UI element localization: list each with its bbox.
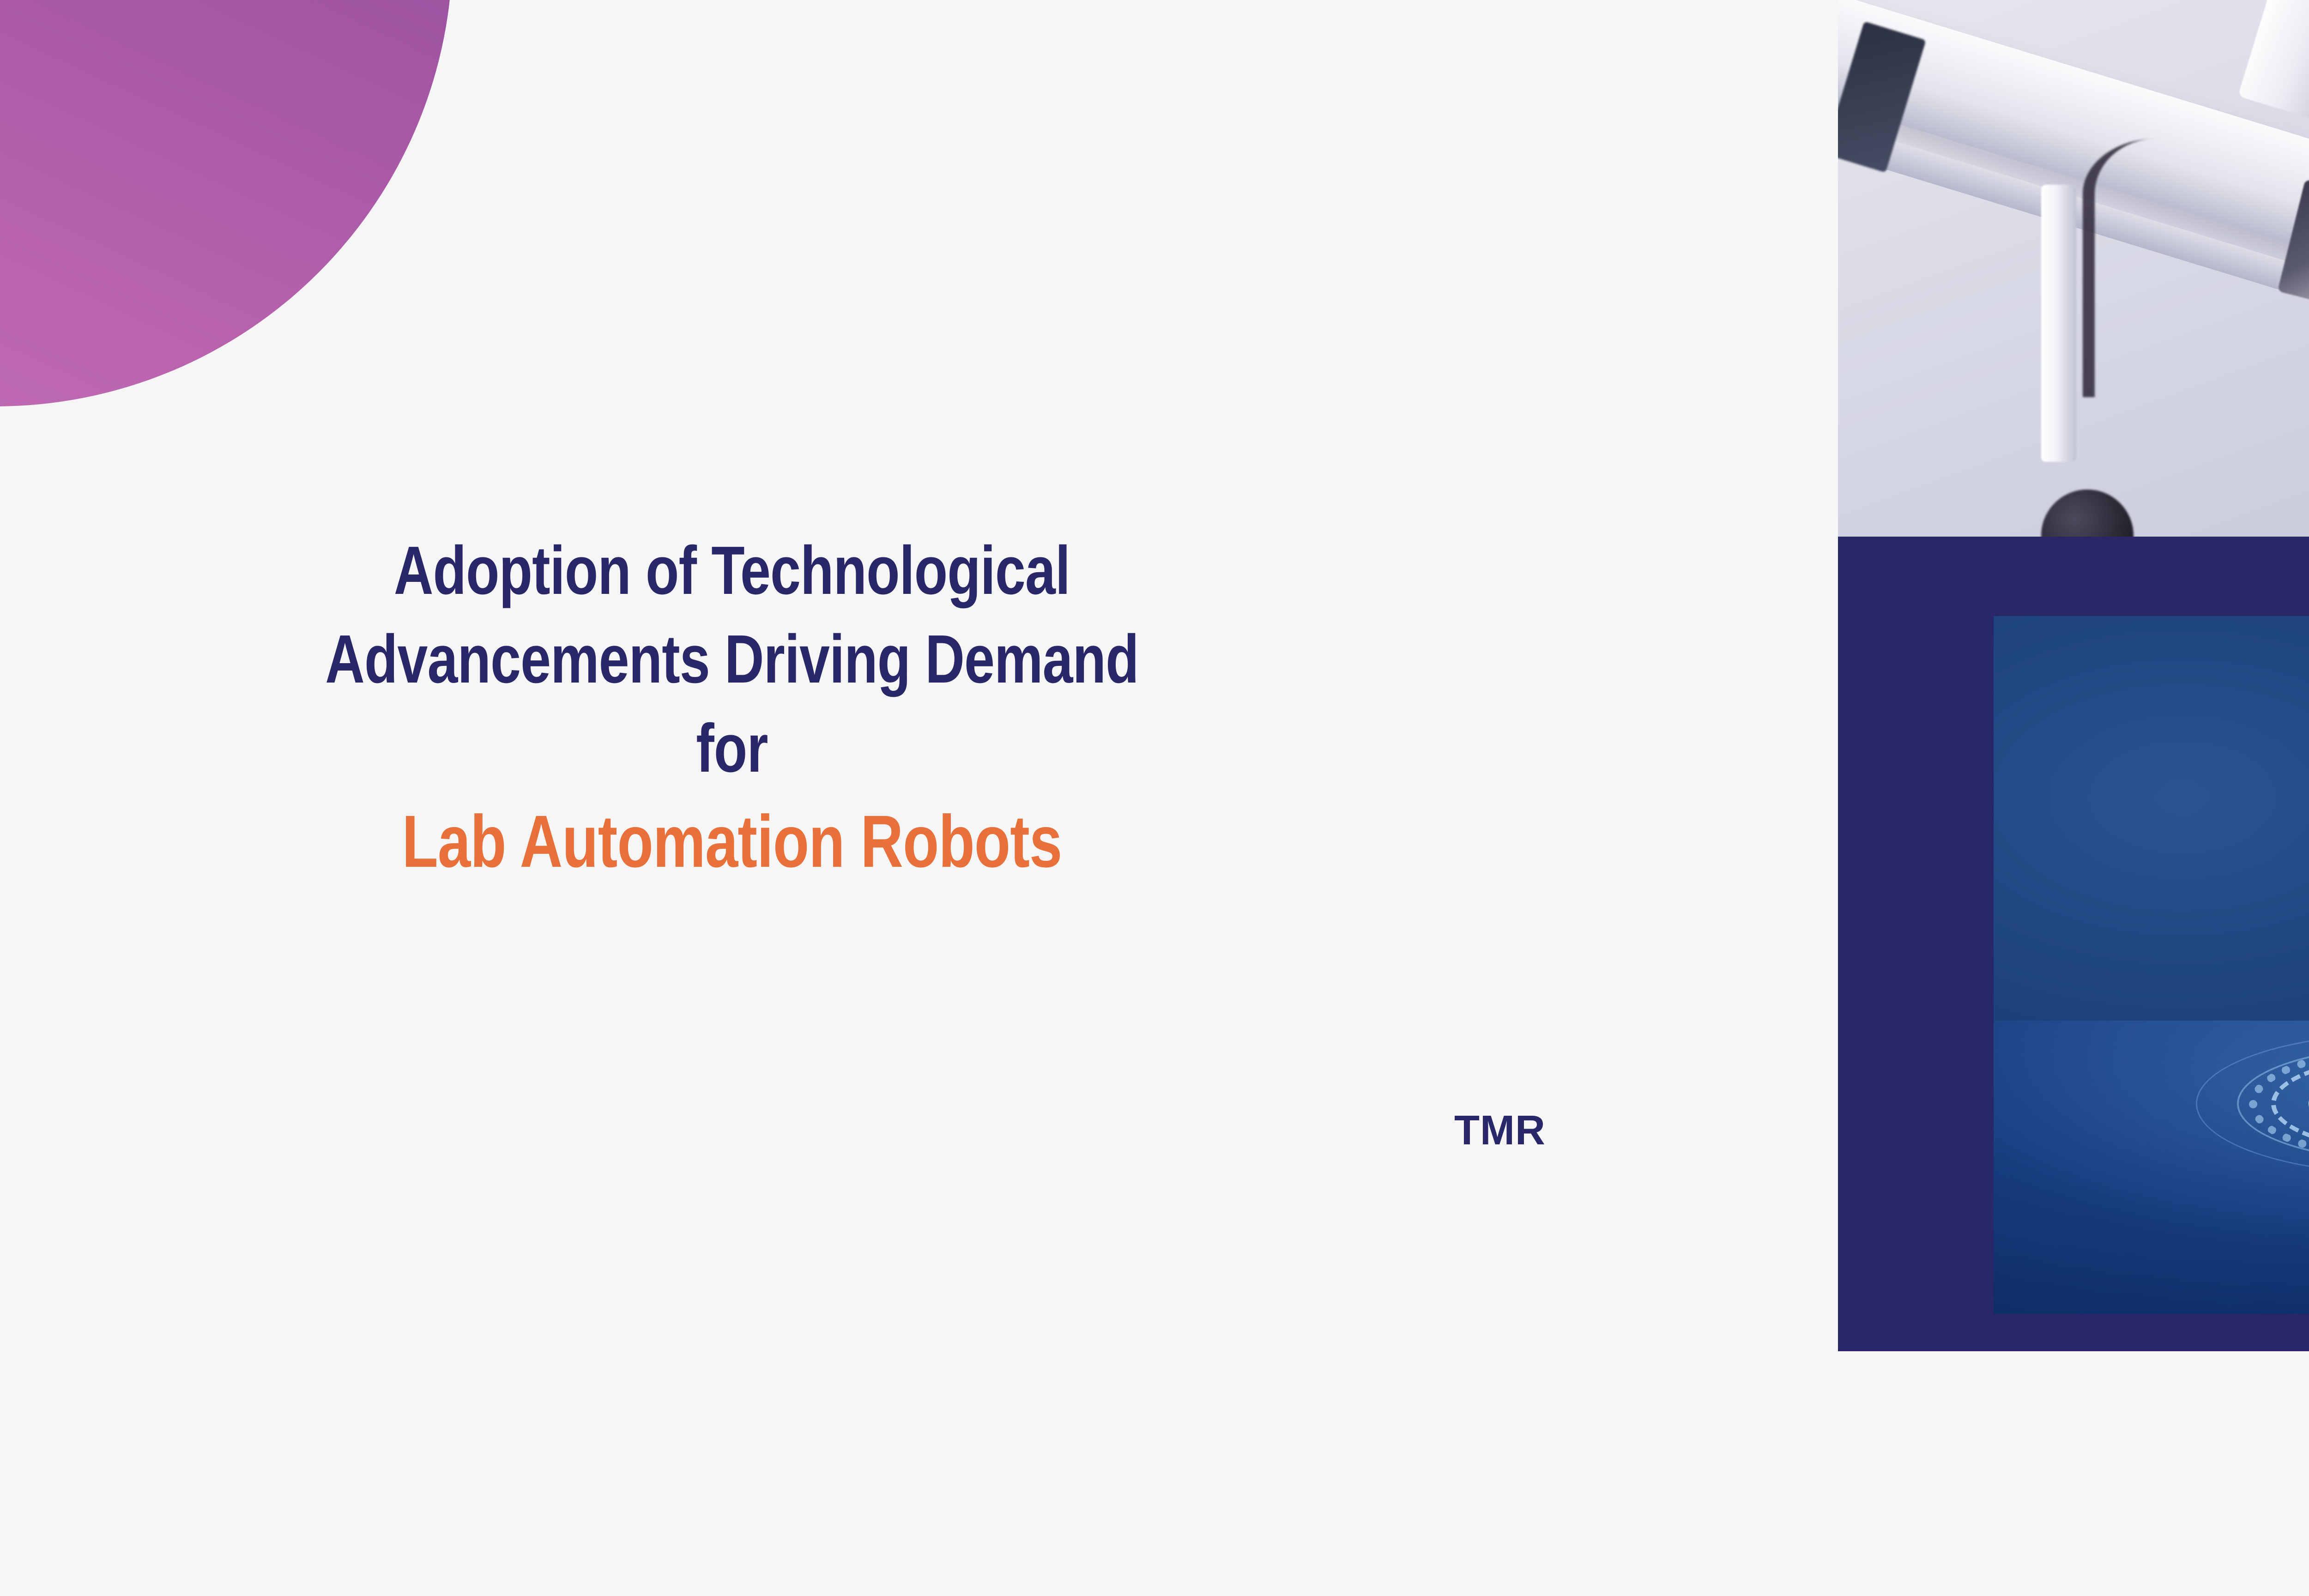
marketing-banner: Adoption of Technological Advancements D… (0, 0, 2309, 1596)
laboratory-microscope-photo (1838, 0, 2309, 537)
lab-coiled-cable (2083, 139, 2210, 397)
text-column: Adoption of Technological Advancements D… (0, 0, 1838, 1596)
lab-light-tube (2041, 185, 2076, 462)
brand-logo: TMR (1403, 1107, 1597, 1155)
holographic-hud-icon (2193, 1021, 2309, 1187)
page-title: Adoption of Technological Advancements D… (146, 526, 1318, 793)
robotic-hand-touch-interface-photo (1994, 616, 2309, 1314)
media-column (1838, 0, 2309, 1351)
robot-hand-panel (1838, 537, 2309, 1351)
page-subtitle: Lab Automation Robots (146, 804, 1318, 878)
